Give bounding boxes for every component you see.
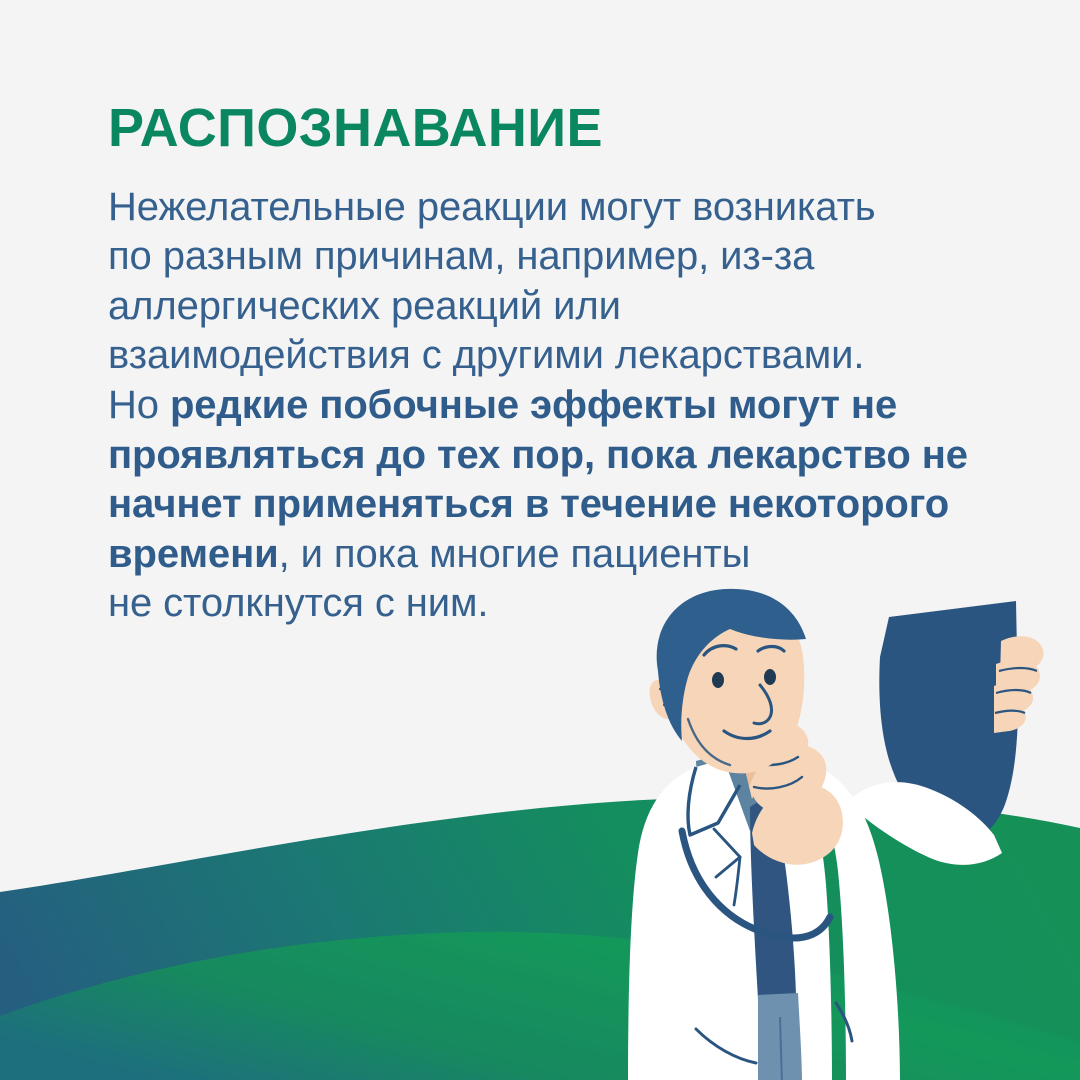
body-line-1: Нежелательные реакции могут возникать <box>108 183 1008 233</box>
text-content: РАСПОЗНАВАНИЕ Нежелательные реакции могу… <box>108 100 1008 629</box>
body-line-7: начнет применяться в течение некоторого <box>108 480 1008 530</box>
doctor-illustration <box>600 585 1080 1080</box>
body-line-7-bold: начнет применяться в течение некоторого <box>108 482 949 526</box>
page-title: РАСПОЗНАВАНИЕ <box>108 100 1008 157</box>
body-line-5-prefix: Но <box>108 383 170 427</box>
body-line-8-bold: времени <box>108 532 279 576</box>
body-line-9: не столкнутся с ним. <box>108 579 1008 629</box>
body-line-8-rest: , и пока многие пациенты <box>279 532 751 576</box>
body-line-4: взаимодействия с другими лекарствами. <box>108 331 1008 381</box>
body-line-5: Но редкие побочные эффекты могут не <box>108 381 1008 431</box>
body-line-8: времени, и пока многие пациенты <box>108 530 1008 580</box>
body-line-3: аллергических реакций или <box>108 282 1008 332</box>
body-line-6: проявляться до тех пор, пока лекарство н… <box>108 431 1008 481</box>
body-copy: Нежелательные реакции могут возникать по… <box>108 183 1008 629</box>
body-line-6-bold: проявляться до тех пор, пока лекарство н… <box>108 433 968 477</box>
eye-left <box>712 672 724 688</box>
body-line-2: по разным причинам, например, из-за <box>108 232 1008 282</box>
raised-hand <box>994 636 1043 733</box>
eye-right <box>764 669 776 685</box>
slide-root: РАСПОЗНАВАНИЕ Нежелательные реакции могу… <box>0 0 1080 1080</box>
body-line-5-bold: редкие побочные эффекты могут не <box>170 383 897 427</box>
